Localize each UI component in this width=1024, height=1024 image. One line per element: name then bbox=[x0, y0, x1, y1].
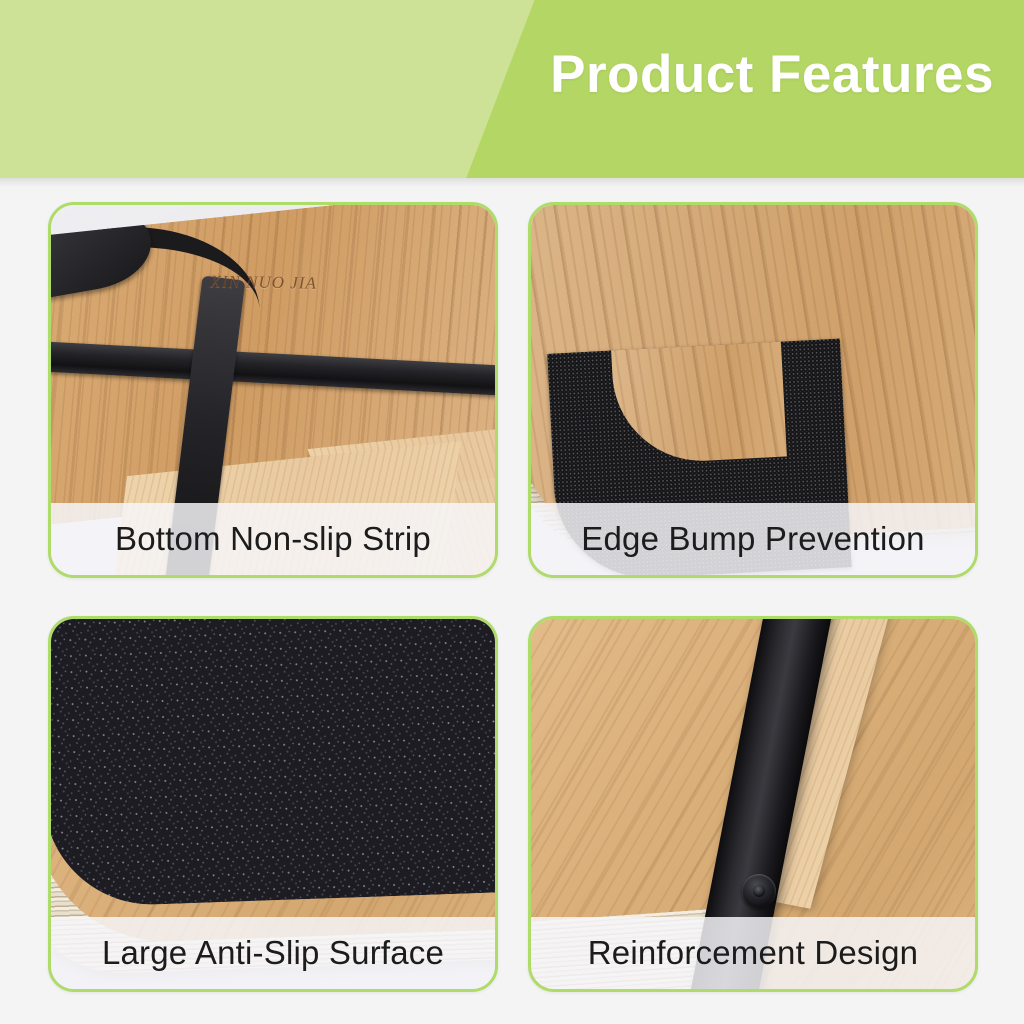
pad-notch-cutout bbox=[611, 338, 787, 465]
anti-slip-grit-surface bbox=[51, 619, 495, 908]
feature-card-large-anti-slip-surface[interactable]: Large Anti-Slip Surface bbox=[48, 616, 498, 992]
brand-logo-engraving: XIN NUO JIA bbox=[210, 272, 317, 294]
product-features-infographic: Product Features bbox=[0, 0, 1024, 1024]
header-drop-shadow bbox=[0, 178, 1024, 187]
feature-card-bottom-non-slip-strip[interactable]: XIN NUO JIA Bottom Non-slip Strip bbox=[48, 202, 498, 578]
feature-card-edge-bump-prevention[interactable]: Edge Bump Prevention bbox=[528, 202, 978, 578]
feature-card-grid: XIN NUO JIA Bottom Non-slip Strip Edge B… bbox=[48, 202, 978, 992]
card-caption: Reinforcement Design bbox=[531, 917, 975, 989]
wood-grain-texture bbox=[611, 338, 787, 465]
header-banner: Product Features bbox=[0, 0, 1024, 178]
card-caption: Edge Bump Prevention bbox=[531, 503, 975, 575]
feature-card-reinforcement-design[interactable]: Reinforcement Design bbox=[528, 616, 978, 992]
card-caption: Bottom Non-slip Strip bbox=[51, 503, 495, 575]
card-caption: Large Anti-Slip Surface bbox=[51, 917, 495, 989]
page-title: Product Features bbox=[550, 48, 994, 101]
header-diagonal-light-band bbox=[0, 0, 538, 178]
